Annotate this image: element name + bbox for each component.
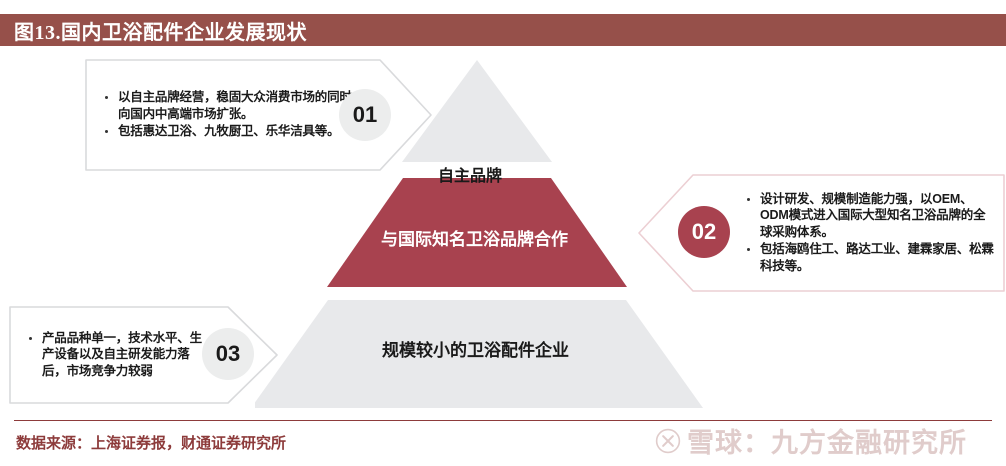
figure-canvas: 图13.国内卫浴配件企业发展现状 自主品牌 与国际知名卫浴品牌合作 规模较小的卫… (0, 0, 1006, 466)
xueqiu-logo-icon (655, 428, 681, 454)
callout-02-number-badge: 02 (678, 206, 730, 258)
callout-03-bullet-list: 产品品种单一，技术水平、生产设备以及自主研发能力落后，市场竞争力较弱 (26, 330, 204, 381)
callout-01-text: 以自主品牌经营，稳固大众消费市场的同时向国内中高端市场扩张。 包括惠达卫浴、九牧… (102, 74, 352, 156)
callout-02-bullet-list: 设计研发、规模制造能力强，以OEM、ODM模式进入国际大型知名卫浴品牌的全球采购… (744, 191, 996, 276)
callout-02-text: 设计研发、规模制造能力强，以OEM、ODM模式进入国际大型知名卫浴品牌的全球采购… (744, 184, 996, 282)
callout-02[interactable]: 设计研发、规模制造能力强，以OEM、ODM模式进入国际大型知名卫浴品牌的全球采购… (636, 172, 1006, 294)
footer-divider (14, 420, 992, 421)
pyramid-tier-top-label: 自主品牌 (438, 162, 502, 186)
watermark-text: 雪球：九方金融研究所 (687, 421, 967, 460)
callout-03-text: 产品品种单一，技术水平、生产设备以及自主研发能力落后，市场竞争力较弱 (26, 314, 204, 396)
list-item: 包括惠达卫浴、九牧厨卫、乐华洁具等。 (102, 123, 352, 140)
pyramid-tier-bottom-label: 规模较小的卫浴配件企业 (382, 336, 569, 361)
list-item: 产品品种单一，技术水平、生产设备以及自主研发能力落后，市场竞争力较弱 (26, 330, 204, 380)
watermark: 雪球：九方金融研究所 (655, 421, 967, 460)
list-item: 设计研发、规模制造能力强，以OEM、ODM模式进入国际大型知名卫浴品牌的全球采购… (744, 191, 996, 241)
data-source-note: 数据来源：上海证券报，财通证券研究所 (16, 432, 286, 453)
list-item: 包括海鸥住工、路达工业、建霖家居、松霖科技等。 (744, 241, 996, 274)
callout-03[interactable]: 产品品种单一，技术水平、生产设备以及自主研发能力落后，市场竞争力较弱 03 (8, 304, 280, 406)
page-title: 图13.国内卫浴配件企业发展现状 (0, 16, 307, 45)
pyramid-tier-middle-label: 与国际知名卫浴品牌合作 (381, 225, 568, 250)
callout-01-bullet-list: 以自主品牌经营，稳固大众消费市场的同时向国内中高端市场扩张。 包括惠达卫浴、九牧… (102, 89, 352, 141)
list-item: 以自主品牌经营，稳固大众消费市场的同时向国内中高端市场扩张。 (102, 89, 352, 122)
callout-03-number-badge: 03 (202, 328, 254, 380)
callout-01[interactable]: 以自主品牌经营，稳固大众消费市场的同时向国内中高端市场扩张。 包括惠达卫浴、九牧… (84, 56, 434, 174)
figure-title-bar: 图13.国内卫浴配件企业发展现状 (0, 14, 1006, 46)
callout-01-number-badge: 01 (339, 89, 391, 141)
